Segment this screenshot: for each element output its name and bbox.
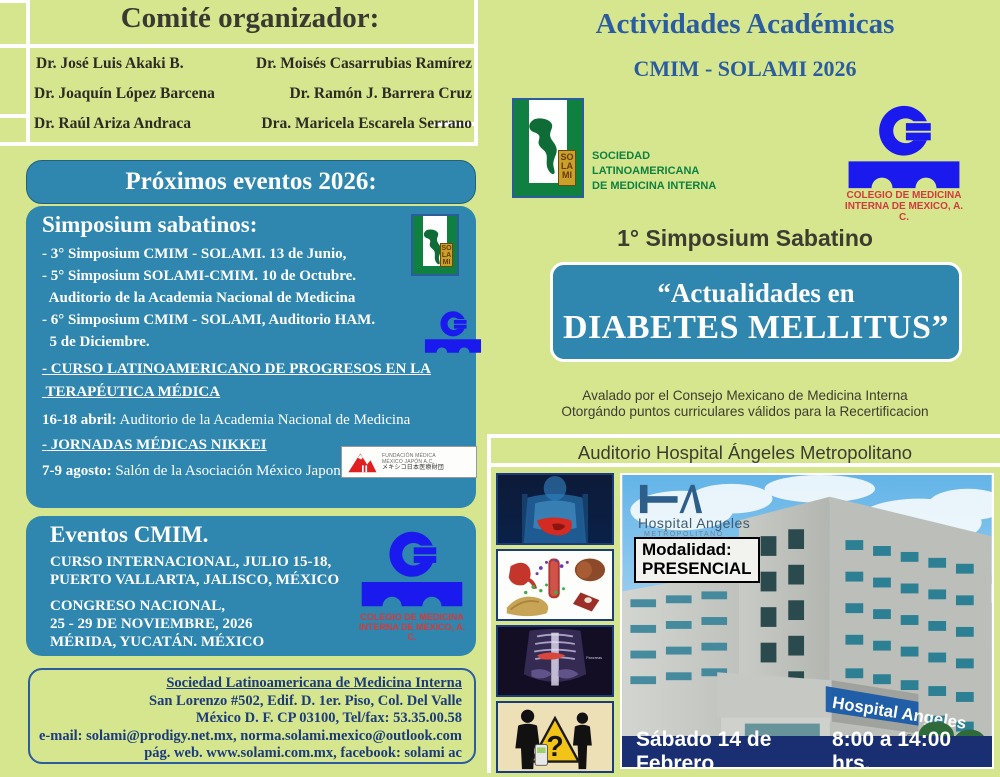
hospital-photo: Hospital Angeles 59 Hospital Angeles MET…	[620, 473, 994, 769]
upcoming-events-title: Próximos eventos 2026:	[125, 168, 376, 196]
hospital-angeles-logo: Hospital Angeles METROPOLITANO	[638, 483, 750, 538]
contact-email: e-mail: solami@prodigy.net.mx, norma.sol…	[30, 728, 462, 746]
committee-member: Dr. Ramón J. Barrera Cruz	[220, 85, 476, 103]
symposium-line: 5 de Diciembre.	[42, 334, 422, 356]
solami-tag: SO LA MI	[440, 243, 453, 267]
symposium-line: - 6° Simposium CMIM - SOLAMI, Auditorio …	[42, 312, 422, 334]
solami-tag: SO LA MI	[558, 150, 576, 186]
digestive-organs-image	[498, 551, 612, 619]
cmim-event-line: CONGRESO NACIONAL,	[50, 598, 350, 616]
solami-caption-2: LATINOAMERICANA	[592, 164, 716, 179]
cmim-events-list: CURSO INTERNACIONAL, JULIO 15-18, PUERTO…	[50, 554, 350, 652]
modality-value: PRESENCIAL	[642, 559, 752, 578]
ha-monogram-icon	[638, 483, 704, 515]
solami-tag-line: MI	[559, 171, 575, 180]
date-time-bar: Sábado 14 de Febrero 8:00 a 14:00 hrs.	[622, 736, 992, 767]
course-date-row: 16-18 abril: Auditorio de la Academia Na…	[42, 412, 462, 436]
venue-label: Auditorio Hospital Ángeles Metropolitano	[490, 442, 1000, 464]
hospital-logo-name: Hospital Angeles	[638, 515, 750, 531]
cmim-event-line: CURSO INTERNACIONAL, JULIO 15-18,	[50, 554, 350, 572]
fundacion-medica-logo: FUNDACIÓN MÉDICA MÉXICO JAPÓN A.C. メキシコ日…	[341, 446, 477, 478]
endorsement-line-2: Otorgándo puntos curriculares válidos pa…	[490, 404, 1000, 420]
page-title: Actividades Académicas	[490, 8, 1000, 41]
liver-anatomy-image	[498, 475, 612, 543]
cmim-logo-icon	[845, 104, 963, 190]
cmim-logo-icon	[424, 310, 482, 354]
jornadas-venue: Salón de la Asociación México Japonesa	[112, 463, 360, 479]
cmim-event-line: MÉRIDA, YUCATÁN. MÉXICO	[50, 634, 350, 652]
solami-tag-line: SO	[441, 245, 452, 252]
course-date: 16-18 abril:	[42, 412, 117, 428]
svg-text:?: ?	[546, 731, 563, 763]
committee-row: Dr. Raúl Ariza Andraca Dra. Maricela Esc…	[28, 115, 476, 145]
course-title-line2: TERAPÉUTICA MÉDICA	[42, 384, 220, 408]
committee-member: Dr. José Luis Akaki B.	[28, 55, 220, 73]
contact-web: pág. web. www.solami.com.mx, facebook: s…	[30, 745, 462, 763]
endorsement: Avalado por el Consejo Mexicano de Medic…	[490, 388, 1000, 420]
fundacion-line-3: メキシコ日本医療財団	[382, 465, 444, 471]
committee-member: Dra. Maricela Escarela Serrano	[220, 115, 476, 133]
pancreas-xray-thumbnail: Pancreas	[496, 625, 614, 697]
symposium-line: - 3° Simposium CMIM - SOLAMI. 13 de Juni…	[42, 246, 422, 268]
left-column: Comité organizador: Dr. José Luis Akaki …	[0, 0, 477, 773]
right-column: Actividades Académicas CMIM - SOLAMI 202…	[490, 0, 1000, 773]
solami-logo-icon: SO LA MI	[512, 98, 584, 198]
page-subtitle: CMIM - SOLAMI 2026	[490, 56, 1000, 82]
committee-title: Comité organizador:	[30, 2, 470, 40]
cmim-event-line: 25 - 29 DE NOVIEMBRE, 2026	[50, 616, 350, 634]
event-date: Sábado 14 de Febrero	[636, 728, 832, 770]
cmim-events-box: Eventos CMIM. CURSO INTERNACIONAL, JULIO…	[26, 516, 476, 656]
modality-badge: Modalidad: PRESENCIAL	[634, 537, 760, 583]
symposium-line: - 5° Simposium SOLAMI-CMIM. 10 de Octubr…	[42, 268, 422, 290]
cmim-logo-caption-1: COLEGIO DE MEDICINA	[842, 190, 966, 201]
contact-org: Sociedad Latinoamericana de Medicina Int…	[166, 675, 462, 693]
contact-address-2: México D. F. CP 03100, Tel/fax: 53.35.00…	[30, 710, 462, 728]
event-title-box: “Actualidades en DIABETES MELLITUS”	[550, 262, 962, 362]
course-venue: Auditorio de la Academia Nacional de Med…	[117, 412, 411, 428]
solami-tag-line: MI	[441, 259, 452, 266]
diabetes-question-thumbnail: ?	[496, 701, 614, 773]
cmim-logo-icon	[360, 530, 464, 608]
mount-fuji-icon	[345, 449, 379, 475]
symposium-label: 1° Simposium Sabatino	[490, 225, 1000, 252]
committee-row: Dr. José Luis Akaki B. Dr. Moisés Casarr…	[28, 55, 476, 85]
solami-logo-icon: SO LA MI	[411, 214, 459, 276]
symposium-line: Auditorio de la Academia Nacional de Med…	[42, 290, 422, 312]
svg-text:Pancreas: Pancreas	[586, 656, 602, 660]
cmim-event-line: PUERTO VALLARTA, JALISCO, MÉXICO	[50, 572, 350, 590]
committee-member: Dr. Moisés Casarrubias Ramírez	[220, 55, 476, 73]
jornadas-title: - JORNADAS MÉDICAS NIKKEI	[42, 437, 267, 463]
committee-members: Dr. José Luis Akaki B. Dr. Moisés Casarr…	[28, 55, 476, 145]
upcoming-events-header: Próximos eventos 2026:	[26, 160, 476, 204]
digestive-organs-thumbnail	[496, 549, 614, 621]
solami-caption-1: SOCIEDAD	[592, 149, 716, 164]
brochure-page: Comité organizador: Dr. José Luis Akaki …	[0, 0, 1000, 773]
event-time: 8:00 a 14:00 hrs.	[832, 728, 978, 770]
cmim-logo-caption-2: INTERNA DE MEXICO, A. C.	[842, 201, 966, 223]
cmim-logo-caption-1: COLEGIO DE MEDICINA	[356, 612, 468, 622]
diabetes-question-image: ?	[498, 703, 612, 771]
event-title-line-2: DIABETES MELLITUS”	[563, 309, 949, 347]
cmim-logo-caption-2: INTERNA DE MEXICO, A. C.	[356, 622, 468, 642]
course-title-line1: - CURSO LATINOAMERICANO DE PROGRESOS EN …	[42, 361, 462, 383]
thumbnail-strip: Pancreas ?	[496, 473, 614, 777]
saturday-symposia-heading: Simposium sabatinos:	[42, 212, 257, 238]
contact-address-1: San Lorenzo #502, Edif. D. 1er. Piso, Co…	[30, 693, 462, 711]
committee-row: Dr. Joaquín López Barcena Dr. Ramón J. B…	[28, 85, 476, 115]
saturday-symposia-box: Simposium sabatinos: - 3° Simposium CMIM…	[26, 206, 476, 508]
cmim-logo-block: COLEGIO DE MEDICINA INTERNA DE MEXICO, A…	[842, 104, 966, 223]
cmim-events-heading: Eventos CMIM.	[50, 522, 208, 548]
solami-caption-3: DE MEDICINA INTERNA	[592, 179, 716, 194]
solami-caption: SOCIEDAD LATINOAMERICANA DE MEDICINA INT…	[592, 149, 716, 198]
event-title-line-1: “Actualidades en	[657, 278, 854, 309]
committee-member: Dr. Joaquín López Barcena	[28, 85, 220, 103]
liver-anatomy-thumbnail	[496, 473, 614, 545]
jornadas-date: 7-9 agosto:	[42, 463, 112, 479]
modality-label: Modalidad:	[642, 540, 752, 559]
solami-tag-line: LA	[441, 252, 452, 259]
contact-box: Sociedad Latinoamericana de Medicina Int…	[28, 668, 476, 764]
pancreas-xray-image: Pancreas	[498, 627, 612, 695]
endorsement-line-1: Avalado por el Consejo Mexicano de Medic…	[490, 388, 1000, 404]
solami-logo-block: SO LA MI SOCIEDAD LATINOAMERICANA DE MED…	[512, 98, 716, 198]
committee-member: Dr. Raúl Ariza Andraca	[28, 115, 220, 133]
symposium-list: - 3° Simposium CMIM - SOLAMI. 13 de Juni…	[42, 246, 422, 356]
